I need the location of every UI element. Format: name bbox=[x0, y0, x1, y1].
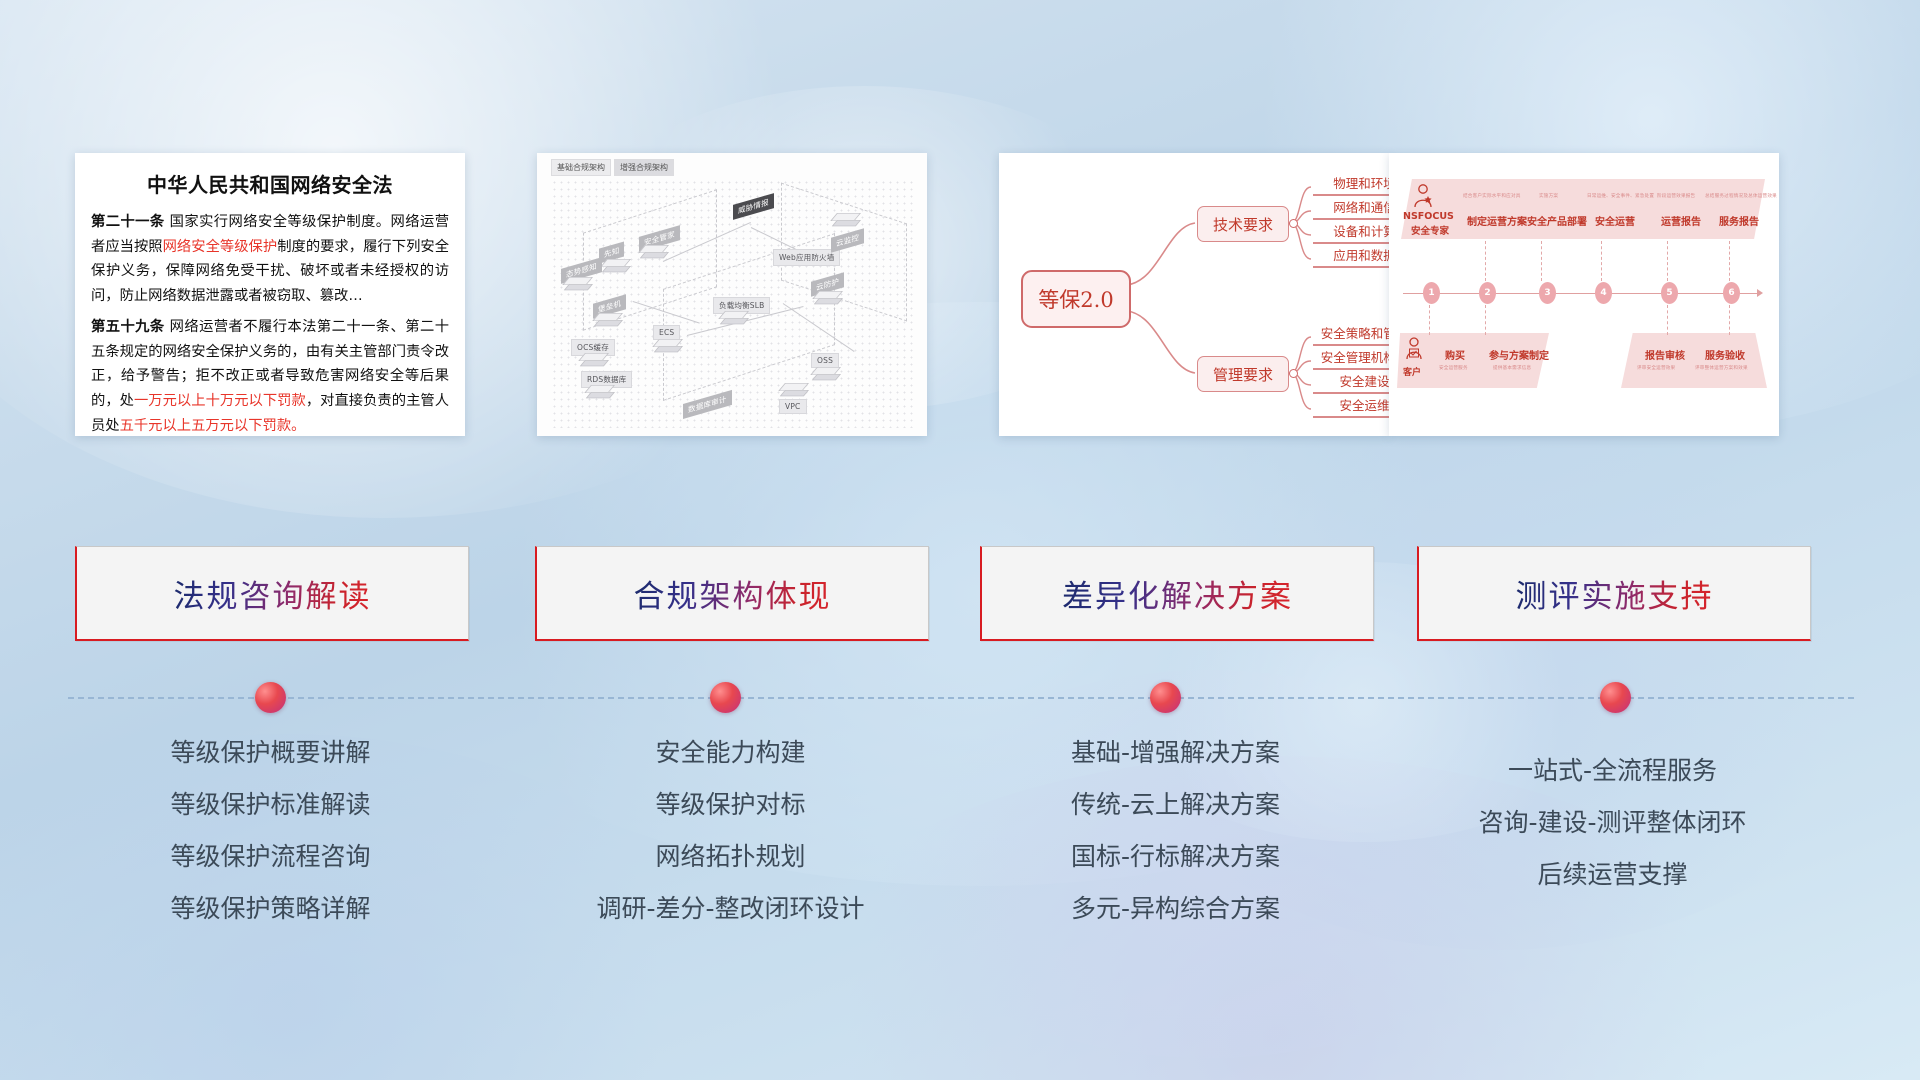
node-oss-icon bbox=[817, 367, 847, 387]
heading-label-differentiated-solution: 差异化解决方案 bbox=[1062, 571, 1293, 616]
node-rds-icon bbox=[591, 385, 621, 405]
timeline-node-2: 2 bbox=[1479, 282, 1496, 304]
law-article-59-label: 第五十九条 bbox=[91, 319, 165, 335]
list-item: 等级保护标准解读 bbox=[75, 792, 466, 817]
list-item: 后续运营支撑 bbox=[1417, 862, 1808, 887]
mindmap-leaf-org-personnel: 安全管理机构和人员 bbox=[1313, 347, 1389, 370]
list-evaluation-support: 一站式-全流程服务 咨询-建设-测评整体闭环 后续运营支撑 bbox=[1417, 758, 1808, 914]
mindmap-leaf-device-compute: 设备和计算安全 bbox=[1313, 221, 1389, 244]
customer-label: 客户 bbox=[1403, 365, 1421, 378]
timeline-axis bbox=[1403, 293, 1759, 294]
timeline-node-4: 4 bbox=[1595, 282, 1612, 304]
top-step-3-title: 安全运营 bbox=[1595, 213, 1635, 228]
card-mindmap: 等保2.0 技术要求 物理和环境安全 网络和通信安全 设备和计算安全 应用和数据… bbox=[999, 153, 1389, 436]
node-situational-awareness-icon bbox=[569, 277, 599, 297]
expert-label-role: 安全专家 bbox=[1411, 223, 1449, 237]
list-item: 网络拓扑规划 bbox=[535, 844, 926, 869]
list-item: 国标-行标解决方案 bbox=[980, 844, 1371, 869]
list-compliance-architecture: 安全能力构建 等级保护对标 网络拓扑规划 调研-差分-整改闭环设计 bbox=[535, 740, 926, 948]
timeline-marker-4[interactable] bbox=[1600, 682, 1631, 713]
list-item: 等级保护策略详解 bbox=[75, 896, 466, 921]
top-step-3-sub: 日常运维、安全事件、紧急处置 bbox=[1587, 193, 1654, 199]
timeline-marker-3[interactable] bbox=[1150, 682, 1181, 713]
node-slb-icon bbox=[725, 311, 755, 331]
timeline-tick-2 bbox=[1541, 241, 1543, 281]
list-item: 等级保护对标 bbox=[535, 792, 926, 817]
card-service-timeline: NSFOCUS 安全专家 结合客户实际水平和应对具 制定运营方案 实施方案 安全… bbox=[1389, 153, 1779, 436]
timeline-band-expert bbox=[1401, 179, 1765, 239]
list-item: 咨询-建设-测评整体闭环 bbox=[1417, 810, 1808, 835]
list-item: 传统-云上解决方案 bbox=[980, 792, 1371, 817]
customer-avatar-icon bbox=[1403, 336, 1425, 360]
mindmap-leaf-construction-mgmt: 安全建设管理 bbox=[1313, 371, 1389, 394]
law-article-21-highlight: 网络安全等级保护 bbox=[163, 239, 278, 255]
expert-label-brand: NSFOCUS bbox=[1403, 211, 1454, 222]
top-step-2-title: 安全产品部署 bbox=[1527, 213, 1587, 228]
bottom-step-3-sub: 评审安全运营效果 bbox=[1637, 365, 1675, 371]
timeline-marker-2[interactable] bbox=[710, 682, 741, 713]
list-item: 等级保护流程咨询 bbox=[75, 844, 466, 869]
timeline-canvas: NSFOCUS 安全专家 结合客户实际水平和应对具 制定运营方案 实施方案 安全… bbox=[1389, 153, 1779, 436]
law-article-59-highlight-a: 一万元以上十万元以下罚款 bbox=[134, 393, 306, 409]
heading-label-compliance-architecture: 合规架构体现 bbox=[634, 571, 832, 616]
timeline-tick-6 bbox=[1429, 305, 1431, 335]
heading-box-evaluation-support[interactable]: 测评实施支持 bbox=[1417, 546, 1811, 641]
heading-label-regulation-consulting: 法规咨询解读 bbox=[174, 571, 372, 616]
top-step-2-sub: 实施方案 bbox=[1539, 193, 1558, 199]
timeline-dashed-line bbox=[68, 697, 1854, 699]
law-article-59-highlight-b: 五千元以上五万元以下罚款。 bbox=[120, 418, 306, 434]
architecture-tabs[interactable]: 基础合规架构 增强合规架构 bbox=[551, 159, 674, 176]
card-architecture-diagram: 基础合规架构 增强合规架构 威胁情报 安全管家 先知 态势感知 堡垒机 ECS … bbox=[537, 153, 927, 436]
mindmap-leaf-ops-mgmt: 安全运维管理 bbox=[1313, 395, 1389, 418]
mindmap-collapse-dot-management[interactable] bbox=[1289, 369, 1298, 378]
node-bastion-host-icon bbox=[599, 313, 629, 333]
list-item: 一站式-全流程服务 bbox=[1417, 758, 1808, 783]
mindmap-root-node: 等保2.0 bbox=[1021, 270, 1131, 328]
heading-box-differentiated-solution[interactable]: 差异化解决方案 bbox=[980, 546, 1374, 641]
node-ocs-cache-icon bbox=[585, 353, 615, 373]
architecture-canvas: 基础合规架构 增强合规架构 威胁情报 安全管家 先知 态势感知 堡垒机 ECS … bbox=[537, 153, 927, 436]
bottom-step-2-sub: 提供基本需求信息 bbox=[1493, 365, 1531, 371]
node-vpc-icon bbox=[785, 383, 815, 403]
list-item: 多元-异构综合方案 bbox=[980, 896, 1371, 921]
mindmap-collapse-dot-technical[interactable] bbox=[1289, 219, 1298, 228]
timeline-tick-7 bbox=[1485, 305, 1487, 335]
node-ecs: ECS bbox=[653, 325, 680, 340]
timeline-node-1: 1 bbox=[1423, 282, 1440, 304]
heading-box-compliance-architecture[interactable]: 合规架构体现 bbox=[535, 546, 929, 641]
mindmap-leaf-network-comm: 网络和通信安全 bbox=[1313, 197, 1389, 220]
mindmap-leaf-physical-env: 物理和环境安全 bbox=[1313, 173, 1389, 196]
bottom-step-2-title: 参与方案制定 bbox=[1489, 347, 1549, 362]
top-step-4-sub: 阶段运营效果报告 bbox=[1657, 193, 1695, 199]
node-oss: OSS bbox=[811, 353, 839, 368]
top-step-1-sub: 结合客户实际水平和应对具 bbox=[1463, 193, 1521, 199]
list-item: 调研-差分-整改闭环设计 bbox=[535, 896, 926, 921]
mindmap-leaf-app-data: 应用和数据安全 bbox=[1313, 245, 1389, 268]
timeline-tick-3 bbox=[1601, 241, 1603, 281]
bottom-step-1-title: 购买 bbox=[1445, 347, 1465, 362]
mindmap-canvas: 等保2.0 技术要求 物理和环境安全 网络和通信安全 设备和计算安全 应用和数据… bbox=[999, 153, 1389, 436]
law-article-21-label: 第二十一条 bbox=[91, 214, 165, 230]
top-step-1-title: 制定运营方案 bbox=[1467, 213, 1527, 228]
bottom-step-4-sub: 评审整体运营方案和效果 bbox=[1695, 365, 1748, 371]
list-regulation-consulting: 等级保护概要讲解 等级保护标准解读 等级保护流程咨询 等级保护策略详解 bbox=[75, 740, 466, 948]
timeline-arrow-icon bbox=[1757, 289, 1763, 297]
bottom-step-4-title: 服务验收 bbox=[1705, 347, 1745, 362]
timeline-tick-1 bbox=[1485, 241, 1487, 281]
timeline-tick-8 bbox=[1667, 305, 1669, 335]
timeline-node-3: 3 bbox=[1539, 282, 1556, 304]
law-article-59: 第五十九条 网络运营者不履行本法第二十一条、第二十五条规定的网络安全保护义务的，… bbox=[91, 315, 449, 436]
mindmap-branch-technical: 技术要求 bbox=[1197, 206, 1289, 242]
timeline-marker-1[interactable] bbox=[255, 682, 286, 713]
expert-avatar-icon bbox=[1411, 183, 1435, 209]
law-title: 中华人民共和国网络安全法 bbox=[75, 169, 465, 198]
timeline-tick-5 bbox=[1729, 241, 1731, 281]
timeline-tick-4 bbox=[1667, 241, 1669, 281]
node-security-butler-icon bbox=[645, 245, 675, 265]
tab-basic-compliance[interactable]: 基础合规架构 bbox=[551, 159, 611, 176]
timeline-band-customer-right bbox=[1621, 333, 1767, 388]
timeline-tick-9 bbox=[1729, 305, 1731, 335]
heading-box-regulation-consulting[interactable]: 法规咨询解读 bbox=[75, 546, 469, 641]
node-cloud-protect-icon bbox=[819, 291, 849, 311]
bottom-step-1-sub: 安全运营服务 bbox=[1439, 365, 1468, 371]
node-cloud-monitor-icon bbox=[837, 213, 867, 233]
heading-label-evaluation-support: 测评实施支持 bbox=[1516, 571, 1714, 616]
node-ecs-icon bbox=[659, 339, 689, 359]
list-item: 等级保护概要讲解 bbox=[75, 740, 466, 765]
node-xianzhi-icon bbox=[607, 259, 637, 279]
law-article-21: 第二十一条 国家实行网络安全等级保护制度。网络运营者应当按照网络安全等级保护制度… bbox=[91, 210, 449, 308]
list-differentiated-solution: 基础-增强解决方案 传统-云上解决方案 国标-行标解决方案 多元-异构综合方案 bbox=[980, 740, 1371, 948]
top-step-5-sub: 总结服务过程情况及总体运营效果 bbox=[1705, 193, 1777, 199]
timeline-node-5: 5 bbox=[1661, 282, 1678, 304]
mindmap-leaf-policy-system: 安全策略和管理制度 bbox=[1313, 323, 1389, 346]
list-item: 安全能力构建 bbox=[535, 740, 926, 765]
top-step-5-title: 服务报告 bbox=[1719, 213, 1759, 228]
card-law-text: 中华人民共和国网络安全法 第二十一条 国家实行网络安全等级保护制度。网络运营者应… bbox=[75, 153, 465, 436]
tab-enhanced-compliance[interactable]: 增强合规架构 bbox=[614, 159, 674, 176]
mindmap-branch-management: 管理要求 bbox=[1197, 356, 1289, 392]
list-item: 基础-增强解决方案 bbox=[980, 740, 1371, 765]
timeline-node-6: 6 bbox=[1723, 282, 1740, 304]
top-step-4-title: 运营报告 bbox=[1661, 213, 1701, 228]
bottom-step-3-title: 报告审核 bbox=[1645, 347, 1685, 362]
